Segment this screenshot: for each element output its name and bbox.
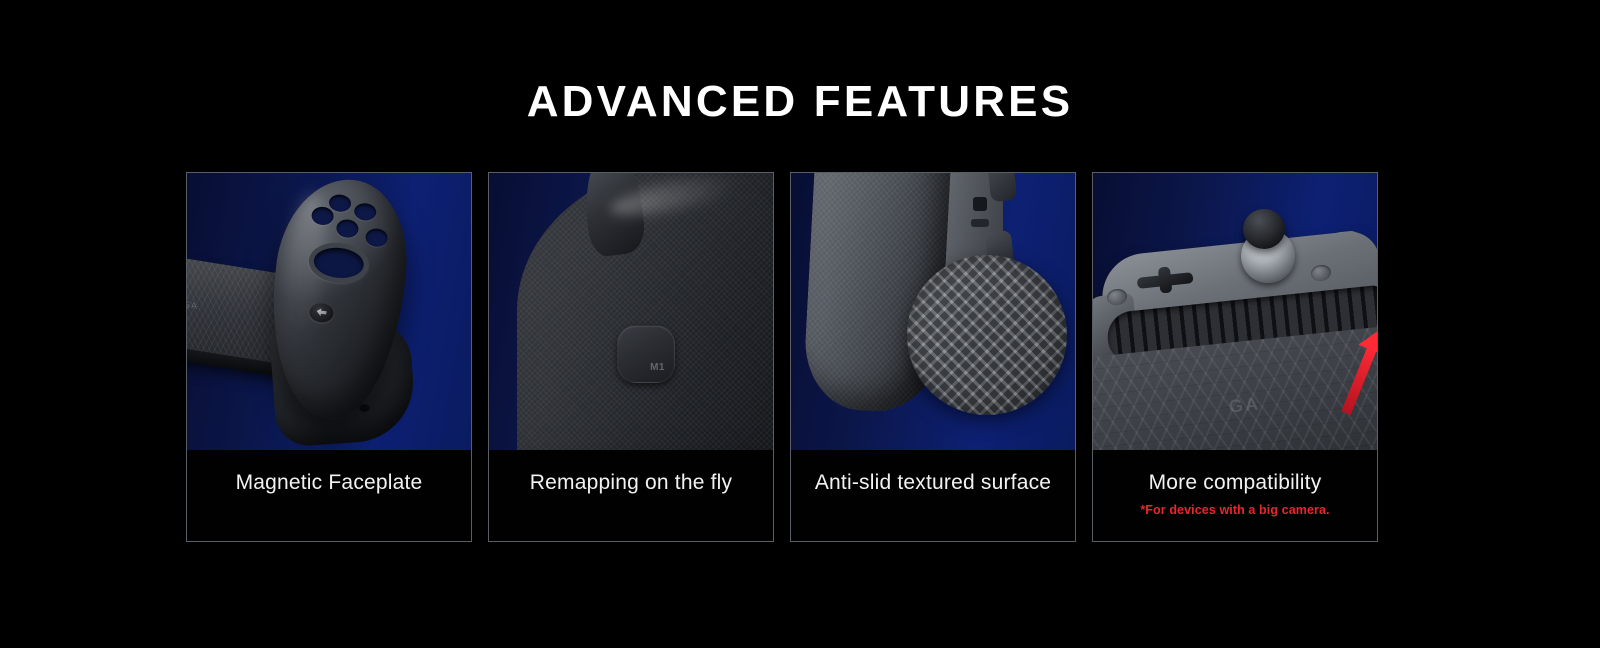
feature-note: *For devices with a big camera. — [1140, 504, 1329, 517]
feature-image-magnetic-faceplate: GA — [187, 173, 471, 450]
controller-faceplate-illustration: GA — [187, 173, 471, 450]
faceplate-button-hole-2 — [353, 202, 377, 221]
faceplate-button-hole-4 — [336, 218, 360, 238]
feature-image-remapping-on-the-fly: M1 — [489, 173, 773, 450]
m1-remap-button[interactable]: M1 — [617, 325, 675, 383]
back-panel-logo: GA — [1228, 393, 1261, 417]
feature-image-anti-slid-textured-surface — [791, 173, 1075, 450]
controller-notch-secondary — [971, 219, 989, 227]
controller-notch — [973, 197, 987, 211]
faceplate-button-hole-5 — [365, 228, 389, 248]
texture-magnifier-circle — [907, 255, 1067, 415]
feature-label: Remapping on the fly — [530, 472, 732, 493]
feature-card-anti-slid-textured-surface[interactable]: Anti-slid textured surface — [790, 172, 1076, 542]
m1-button-label: M1 — [650, 362, 665, 373]
feature-caption-remapping-on-the-fly: Remapping on the fly — [489, 450, 773, 541]
feature-card-magnetic-faceplate[interactable]: GA Magnetic Faceplate — [186, 172, 472, 542]
feature-label: Anti-slid textured surface — [815, 472, 1051, 493]
controller-grip-texture-illustration — [791, 173, 1075, 450]
controller-compatibility-illustration: GA — [1093, 173, 1377, 450]
feature-image-more-compatibility: GA — [1093, 173, 1377, 450]
controller-rear-grip-illustration: M1 — [489, 173, 773, 450]
feature-label: More compatibility — [1149, 472, 1322, 493]
feature-label: Magnetic Faceplate — [236, 472, 423, 493]
shoulder-trigger-top — [987, 173, 1017, 202]
feature-caption-magnetic-faceplate: Magnetic Faceplate — [187, 450, 471, 541]
grip-plate-logo: GA — [187, 299, 198, 311]
feature-caption-more-compatibility: More compatibility *For devices with a b… — [1093, 450, 1377, 541]
page-title: ADVANCED FEATURES — [0, 80, 1600, 124]
feature-card-grid: GA Magnetic Faceplate — [186, 172, 1378, 542]
thumbstick-cap[interactable] — [1243, 209, 1285, 249]
faceplate-button-hole-1 — [328, 194, 352, 213]
textured-rear-grip — [517, 173, 773, 450]
feature-caption-anti-slid-textured-surface: Anti-slid textured surface — [791, 450, 1075, 541]
feature-card-remapping-on-the-fly[interactable]: M1 Remapping on the fly — [488, 172, 774, 542]
feature-card-more-compatibility[interactable]: GA More compatibility *For devices with … — [1092, 172, 1378, 542]
